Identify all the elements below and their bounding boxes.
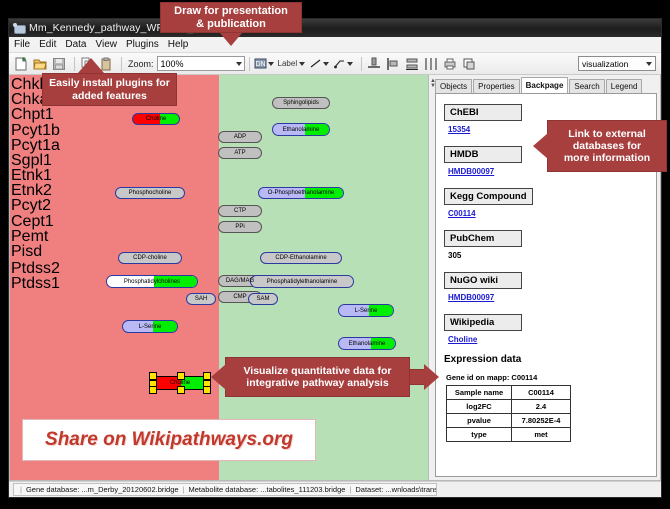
node-label: O-Phosphoethanolamine xyxy=(268,190,334,196)
gene-label: Pisd xyxy=(11,243,42,260)
node-choline[interactable]: Choline xyxy=(132,113,180,125)
app-icon xyxy=(13,22,25,34)
node-label: Choline xyxy=(146,116,166,122)
row-key: Sample name xyxy=(447,386,512,400)
node-label: CDP-choline xyxy=(133,255,167,261)
row-key: pvalue xyxy=(447,414,512,428)
stack-center-icon[interactable] xyxy=(404,56,420,72)
align-left-icon[interactable] xyxy=(385,56,401,72)
print-icon[interactable] xyxy=(442,56,458,72)
gene-label: Ptdss1 xyxy=(11,275,60,292)
status-gene-database: Gene database: ...m_Derby_20120602.bridg… xyxy=(26,485,179,494)
save-file-icon[interactable] xyxy=(51,56,67,72)
node-label: Choline xyxy=(170,380,190,386)
db-header-kegg-compound: Kegg Compound xyxy=(444,188,533,205)
chevron-down-icon xyxy=(268,62,274,66)
toolbar-separator-2 xyxy=(121,57,122,71)
node-label: Phosphatidylcholines xyxy=(124,279,180,285)
toolbar-separator-3 xyxy=(249,57,250,71)
table-row: pvalue 7.80252E-4 xyxy=(447,414,571,428)
zoom-value: 100% xyxy=(161,59,184,69)
new-file-icon[interactable] xyxy=(13,56,29,72)
node-cdp-ethanolamine[interactable]: CDP-Ethanolamine xyxy=(260,252,342,264)
node-sam[interactable]: SAM xyxy=(248,293,278,305)
chevron-down-icon xyxy=(347,62,353,66)
callout-link-external-databases: Link to external databases for more info… xyxy=(547,120,667,172)
chevron-down-icon xyxy=(323,62,329,66)
node-ppi[interactable]: PPi xyxy=(218,221,262,233)
menu-data[interactable]: Data xyxy=(65,39,86,50)
resize-handle-s[interactable] xyxy=(177,386,185,394)
callout-plugins-pointer-icon xyxy=(78,58,104,73)
expression-data-table: Sample name C00114 log2FC 2.4 pvalue 7.8… xyxy=(446,385,571,442)
chevron-down-icon xyxy=(646,62,652,66)
node-sphingolipids[interactable]: Sphingolipids xyxy=(272,97,330,109)
db-header-hmdb: HMDB xyxy=(444,146,522,163)
interaction-icon xyxy=(333,57,346,70)
node-label: PPi xyxy=(235,224,244,230)
visualization-combobox[interactable]: visualization xyxy=(578,56,656,71)
row-key: log2FC xyxy=(447,400,512,414)
align-bottom-icon[interactable] xyxy=(366,56,382,72)
gene-box-ptdss1[interactable]: Ptdss1 xyxy=(10,274,72,290)
node-o-phosphoethanolamine[interactable]: O-Phosphoethanolamine xyxy=(258,187,344,199)
row-value: met xyxy=(512,428,571,442)
resize-handle-se[interactable] xyxy=(203,386,211,394)
row-value: 7.80252E-4 xyxy=(512,414,571,428)
node-l-serine-right[interactable]: L-Serine xyxy=(338,304,394,317)
svg-text:DN: DN xyxy=(255,61,265,68)
window-titlebar: Mm_Kennedy_pathway_WP1771_45176.gpml xyxy=(9,19,661,37)
db-header-wikipedia: Wikipedia xyxy=(444,314,522,331)
share-callout: Share on Wikipathways.org xyxy=(22,419,316,461)
table-row: type met xyxy=(447,428,571,442)
callout-visualize-pointer-icon xyxy=(211,364,226,390)
tab-label: Legend xyxy=(611,82,638,91)
gene-label: Pcyt2 xyxy=(11,197,51,214)
tab-search[interactable]: Search xyxy=(569,79,604,93)
node-label: Ethanolamine xyxy=(283,127,320,133)
node-ethanolamine-2[interactable]: Ethanolamine xyxy=(338,337,396,350)
status-metabolite-database: Metabolite database: ...tabolites_111203… xyxy=(189,485,346,494)
toolbar: Zoom: 100% DN Label xyxy=(9,53,661,75)
zoom-label: Zoom: xyxy=(128,59,154,69)
resize-handle-n[interactable] xyxy=(177,372,185,380)
db-link-wikipedia[interactable]: Choline xyxy=(448,335,656,344)
gene-id-line: Gene id on mapp: C00114 xyxy=(446,373,656,382)
line-icon xyxy=(309,57,322,70)
node-atp[interactable]: ATP xyxy=(218,147,262,159)
tab-label: Objects xyxy=(440,82,467,91)
callout-draw-for-publication: Draw for presentation & publication xyxy=(160,2,302,33)
toolbar-separator-1 xyxy=(74,57,75,71)
node-label: SAM xyxy=(256,296,269,302)
chevron-down-icon xyxy=(299,62,305,66)
resize-handle-sw[interactable] xyxy=(149,386,157,394)
status-inner: | Gene database: ...m_Derby_20120602.bri… xyxy=(13,483,437,496)
label-dropdown-label: Label xyxy=(278,59,298,68)
chevron-down-icon xyxy=(236,62,242,66)
menubar: File Edit Data View Plugins Help xyxy=(9,37,661,53)
tab-legend[interactable]: Legend xyxy=(606,79,643,93)
share-text: Share on Wikipathways.org xyxy=(45,429,293,451)
node-cdp-choline[interactable]: CDP-choline xyxy=(118,252,182,264)
status-divider: | xyxy=(183,485,185,494)
callout-text: Easily install plugins for added feature… xyxy=(49,77,170,101)
tab-backpage[interactable]: Backpage xyxy=(521,77,569,93)
menu-edit[interactable]: Edit xyxy=(39,39,56,50)
label-dropdown[interactable]: Label xyxy=(278,59,306,68)
bring-to-front-icon[interactable] xyxy=(461,56,477,72)
line-dropdown[interactable] xyxy=(309,57,329,70)
node-adp[interactable]: ADP xyxy=(218,131,262,143)
node-label: CTP xyxy=(234,208,246,214)
node-label: Ethanolamine xyxy=(349,341,386,347)
callout-text: Draw for presentation & publication xyxy=(174,5,288,30)
node-ctp[interactable]: CTP xyxy=(218,205,262,217)
datanode-dropdown[interactable]: DN xyxy=(254,57,274,70)
db-value-pubchem: 305 xyxy=(448,251,656,260)
node-label: Phosphocholine xyxy=(129,190,172,196)
menu-help[interactable]: Help xyxy=(168,39,189,50)
row-key: type xyxy=(447,428,512,442)
open-file-icon[interactable] xyxy=(32,56,48,72)
tab-label: Backpage xyxy=(526,81,564,90)
node-label: DAG/MAG xyxy=(226,278,254,284)
callout-draw-pointer-icon xyxy=(220,33,242,46)
node-label: Sphingolipids xyxy=(283,100,319,106)
tab-objects[interactable]: Objects xyxy=(435,79,472,93)
datanode-icon: DN xyxy=(254,57,267,70)
node-ethanolamine[interactable]: Ethanolamine xyxy=(272,123,330,136)
resize-handle-ne[interactable] xyxy=(203,372,211,380)
db-header-nugo-wiki: NuGO wiki xyxy=(444,272,522,289)
db-header-chebi: ChEBI xyxy=(444,104,522,121)
node-label: ADP xyxy=(234,134,246,140)
db-link-nugo-wiki[interactable]: HMDB00097 xyxy=(448,293,656,302)
menu-plugins[interactable]: Plugins xyxy=(126,39,159,50)
gene-label: Chpt1 xyxy=(11,106,54,123)
side-panel-tabs: Objects Properties Backpage Search Legen… xyxy=(435,77,658,93)
db-link-kegg-compound[interactable]: C00114 xyxy=(448,209,656,218)
node-label: L-Serine xyxy=(139,324,162,330)
status-dataset: Dataset: ...wnloads\trans-meta.pgex xyxy=(355,485,437,494)
node-l-serine-left[interactable]: L-Serine xyxy=(122,320,178,333)
selected-node-group[interactable]: Choline xyxy=(149,372,211,394)
visualization-value: visualization xyxy=(582,59,628,69)
callout-install-plugins: Easily install plugins for added feature… xyxy=(42,73,177,106)
tab-properties[interactable]: Properties xyxy=(473,79,519,93)
table-row: Sample name C00114 xyxy=(447,386,571,400)
node-label: L-Serine xyxy=(355,308,378,314)
expression-data-heading: Expression data xyxy=(444,354,656,365)
node-label: Phosphatidylethanolamine xyxy=(267,279,337,285)
screenshot-root: Mm_Kennedy_pathway_WP1771_45176.gpml Fil… xyxy=(0,0,670,509)
resize-handle-nw[interactable] xyxy=(149,372,157,380)
row-value: 2.4 xyxy=(512,400,571,414)
callout-visualize-quantitative-data: Visualize quantitative data for integrat… xyxy=(225,357,410,397)
table-row: log2FC 2.4 xyxy=(447,400,571,414)
node-label: CMP xyxy=(233,294,246,300)
callout-link-pointer-icon xyxy=(533,133,548,159)
node-phosphatidylcholines[interactable]: Phosphatidylcholines xyxy=(106,275,198,288)
node-label: ATP xyxy=(234,150,245,156)
node-phosphocholine[interactable]: Phosphocholine xyxy=(115,187,185,199)
status-divider: | xyxy=(349,485,351,494)
toolbar-separator-4 xyxy=(361,57,362,71)
menu-file[interactable]: File xyxy=(14,39,30,50)
zoom-combobox[interactable]: 100% xyxy=(157,56,245,71)
interaction-dropdown[interactable] xyxy=(333,57,353,70)
db-header-pubchem: PubChem xyxy=(444,230,522,247)
tab-label: Search xyxy=(574,82,599,91)
node-label: CDP-Ethanolamine xyxy=(275,255,326,261)
callout-text: Link to external databases for more info… xyxy=(564,128,650,164)
row-value: C00114 xyxy=(512,386,571,400)
callout-text: Visualize quantitative data for integrat… xyxy=(243,365,391,389)
statusbar: | Gene database: ...m_Derby_20120602.bri… xyxy=(9,481,661,497)
menu-view[interactable]: View xyxy=(95,39,117,50)
node-label: SAH xyxy=(195,296,207,302)
callout-visualize-tail xyxy=(409,369,425,385)
callout-visualize-tail-arrow-icon xyxy=(424,364,439,390)
node-phosphatidylethanolamine[interactable]: Phosphatidylethanolamine xyxy=(250,275,354,288)
status-divider: | xyxy=(20,485,22,494)
tab-label: Properties xyxy=(478,82,514,91)
node-sah[interactable]: SAH xyxy=(186,293,216,305)
common-width-icon[interactable] xyxy=(423,56,439,72)
